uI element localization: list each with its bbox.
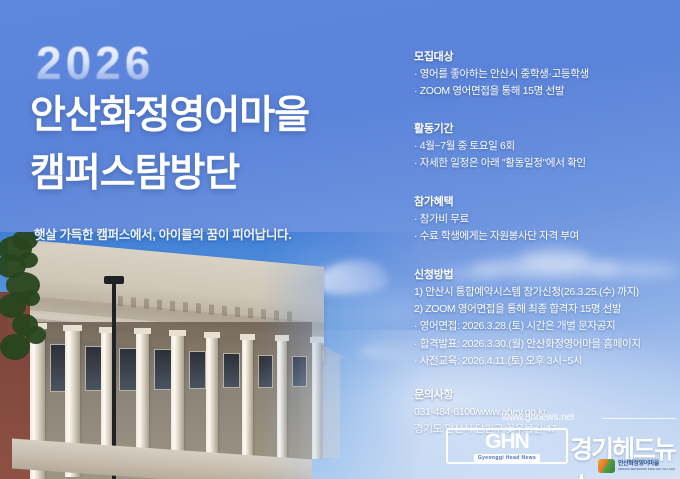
section-apply-item: 2) ZOOM 영어면접을 통해 최종 합격자 15명 선발 xyxy=(414,302,680,317)
section-target-heading: 모집대상 xyxy=(414,48,680,64)
section-target-item: · ZOOM 영어면접을 통해 15명 선발 xyxy=(414,84,680,99)
section-apply-item: · 영어면접: 2026.3.28.(토) 시간은 개별 문자공지 xyxy=(414,319,680,334)
section-benefit-heading: 참가혜택 xyxy=(414,193,680,209)
title-line-1: 안산화정영어마을 xyxy=(30,84,309,140)
village-logo-name: 안산화정영어마을 ANSAN HWAJEONG ENGLISH VILLAGE xyxy=(618,461,675,471)
village-logo: 안산화정영어마을 ANSAN HWAJEONG ENGLISH VILLAGE xyxy=(598,456,676,476)
title-line-2: 캠퍼스탐방단 xyxy=(30,142,239,198)
village-logo-name-en: ANSAN HWAJEONG ENGLISH VILLAGE xyxy=(618,468,675,471)
section-period-heading: 활동기간 xyxy=(414,120,680,136)
section-apply-item: · 사전교육: 2026.4.11.(토) 오후 3시~5시 xyxy=(414,354,680,369)
village-logo-icon xyxy=(598,459,615,473)
section-benefit-item: · 수료 학생에게는 자원봉사단 자격 부여 xyxy=(414,229,680,244)
section-target-item: · 영어를 좋아하는 안산시 중학생·고등학생 xyxy=(414,67,680,82)
section-benefit: 참가혜택 · 참가비 무료 · 수료 학생에게는 자원봉사단 자격 부여 xyxy=(414,193,680,246)
headline-block: 2026 안산화정영어마을 캠퍼스탐방단 햇살 가득한 캠퍼스에서, 아이들의 … xyxy=(0,0,400,479)
section-period: 활동기간 · 4월~7월 중 토요일 6회 · 자세한 일정은 아래 "활동일정… xyxy=(414,120,680,173)
section-period-item: · 4월~7월 중 토요일 6회 xyxy=(414,139,680,154)
poster-canvas: 2026 안산화정영어마을 캠퍼스탐방단 햇살 가득한 캠퍼스에서, 아이들의 … xyxy=(0,0,680,479)
section-target: 모집대상 · 영어를 좋아하는 안산시 중학생·고등학생 · ZOOM 영어면접… xyxy=(414,48,680,101)
section-apply: 신청방법 1) 안산시 통합예약시스템 참가신청(26.3.25.(수) 까지)… xyxy=(414,266,680,371)
section-apply-item: 1) 안산시 통합예약시스템 참가신청(26.3.25.(수) 까지) xyxy=(414,285,680,300)
section-contact-heading: 문의사항 xyxy=(414,386,680,402)
contact-address: 경기도 안산시 단원구 꽃우물길 47 xyxy=(414,422,680,437)
subtitle-text: 햇살 가득한 캠퍼스에서, 아이들의 꿈이 피어납니다. xyxy=(34,224,291,243)
section-benefit-item: · 참가비 무료 xyxy=(414,212,680,227)
section-apply-heading: 신청방법 xyxy=(414,266,680,282)
section-apply-item: · 합격발표: 2026.3.30.(월) 안산화정영어마을 홈페이지 xyxy=(414,337,680,352)
contact-phone-website: 031-484-6100/www.ahev.go.kr xyxy=(414,405,680,420)
year-label: 2026 xyxy=(36,36,154,90)
info-block: 모집대상 · 영어를 좋아하는 안산시 중학생·고등학생 · ZOOM 영어면접… xyxy=(414,0,680,479)
section-period-item: · 자세한 일정은 아래 "활동일정"에서 확인 xyxy=(414,156,680,171)
section-contact: 문의사항 031-484-6100/www.ahev.go.kr 경기도 안산시… xyxy=(414,386,680,439)
